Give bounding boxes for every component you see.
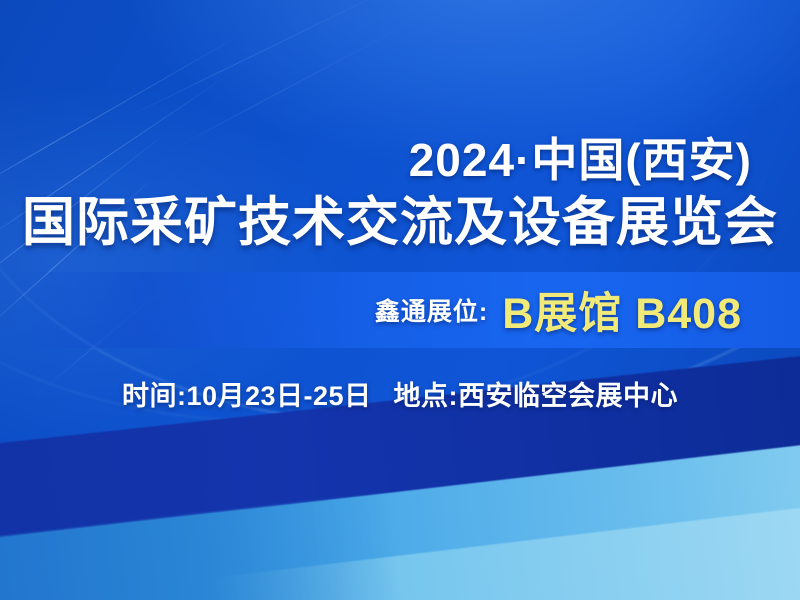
event-place: 地点:西安临空会展中心 <box>394 374 679 413</box>
poster-text-layer: 2024·中国(西安) 国际采矿技术交流及设备展览会 鑫通展位: B展馆 B40… <box>0 0 800 600</box>
booth-label: 鑫通展位: <box>375 292 488 328</box>
poster-title-main: 国际采矿技术交流及设备展览会 <box>22 180 778 256</box>
booth-row: 鑫通展位: B展馆 B408 <box>0 276 800 344</box>
exhibition-poster: 2024·中国(西安) 国际采矿技术交流及设备展览会 鑫通展位: B展馆 B40… <box>0 0 800 600</box>
booth-value: B展馆 B408 <box>502 279 742 341</box>
event-info-row: 时间:10月23日-25日 地点:西安临空会展中心 <box>0 374 800 413</box>
event-time: 时间:10月23日-25日 <box>122 374 372 413</box>
